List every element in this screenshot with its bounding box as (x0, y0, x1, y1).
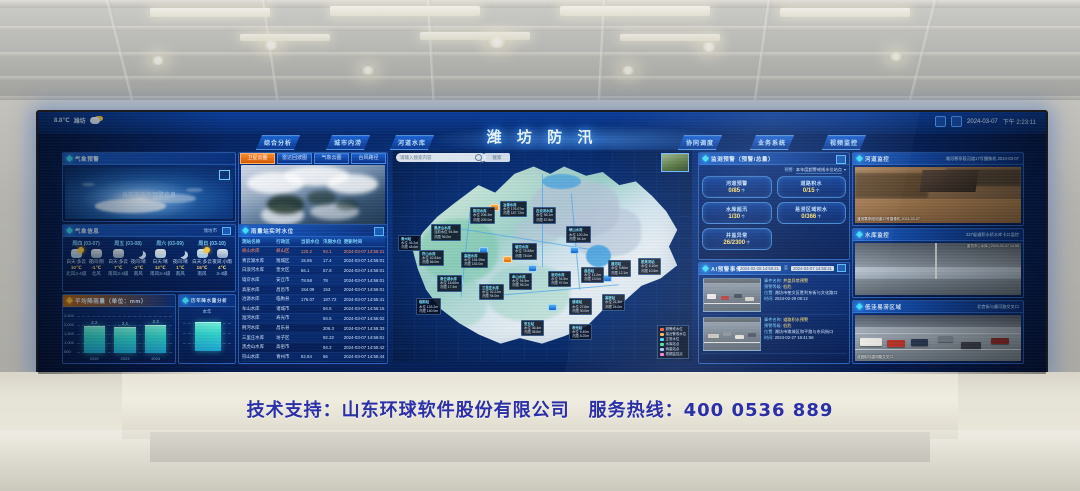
cell-level: 176.07 (300, 294, 322, 304)
bar-group[interactable]: 2.1 (114, 317, 135, 353)
cell-time: 2024-03-07 14:56:01 (343, 333, 385, 343)
tab-coordinated-dispatch[interactable]: 协同调度 (678, 135, 722, 150)
cell-district: 临朐县 (275, 294, 300, 304)
cell-level: 78.58 (300, 275, 322, 285)
cloud-icon (217, 249, 228, 258)
camera-overlay-text: 潍坊市 | 水库 | 2024-03-07 14:56 (967, 244, 1019, 249)
map-tooltip[interactable]: 寿光站水位 6.40m汛限 8.20m (569, 324, 592, 341)
tooltip-limit: 汛限 96.0m (434, 235, 451, 239)
sun-cloud-icon (197, 249, 208, 258)
tooltip-limit: 汛限 17.4m (440, 285, 457, 289)
col-level: 当前水位 (300, 237, 322, 247)
map-tooltip[interactable]: 诸城站水位 27.6m汛限 30.0m (569, 298, 592, 315)
x-tick: 2022 (84, 356, 105, 361)
col-time: 更新时间 (343, 237, 385, 247)
cell-time: 2024-03-07 14:56:01 (343, 275, 385, 285)
event-level-value: 低危 (783, 284, 791, 289)
event-text: 事件名称: 井盖异常预警 预警等级: 低危 位置: 潍坊市奎文区胜利东街与文化路… (764, 278, 845, 312)
forecast-day[interactable]: 周五 (03-08) 白天:多云7℃南风3-4级夜间:晴-2℃南风 (108, 240, 148, 277)
cell-station: 淮河水库 (241, 314, 275, 324)
cell-limit: 153 (322, 285, 343, 295)
camera-scene-label: 北宫街与虞河路交叉口 (977, 304, 1019, 310)
kpi-label: 井盖异常 (705, 232, 769, 239)
cell-level: 15.65 (300, 256, 322, 266)
rainfall-bar-chart[interactable]: 2,500 2,000 1,500 1,000 500 2.2 2.1 2. (63, 307, 175, 361)
cell-level (300, 333, 322, 343)
camera-overlay-text: 北宫街与虞河路交叉口 (857, 355, 893, 360)
table-row[interactable]: 黑虎山水库高密市94.22024-03-07 14:55:42 (241, 342, 385, 352)
current-time: 下午 2:23:11 (1003, 117, 1036, 126)
cell-level (300, 342, 322, 352)
tooltip-limit: 汛限 57.8m (536, 218, 553, 222)
forecast-grid: 周四 (03-07) 白天:多云10℃北风3-4级夜间:阴-1℃北风 周五 (0… (66, 240, 232, 277)
table-row[interactable]: 牟山水库诸城市94.52024-03-07 14:56:15 (241, 304, 385, 314)
forecast-night-wind: 南风 (128, 271, 148, 277)
event-type-key: 事件名称: (764, 317, 782, 322)
map-search-input[interactable]: 请输入搜索内容 (396, 153, 486, 162)
expand-icon[interactable] (374, 227, 384, 236)
cell-time: 2024-03-07 14:55:44 (343, 352, 385, 362)
snow-icon (155, 249, 166, 258)
tab-rivers-reservoirs[interactable]: 河道水库 (390, 135, 434, 150)
event-thumbnail[interactable] (703, 278, 761, 312)
forecast-night-wind: 北风 (86, 271, 106, 277)
tooltip-limit: 汛限 78.0m (515, 254, 532, 258)
tab-comprehensive-analysis[interactable]: 综合分析 (256, 135, 300, 150)
forecast-title: 气象信息 (75, 227, 99, 235)
weather-forecast-panel[interactable]: 气象信息 潍坊市 周四 (03-07) 白天:多云10℃北风3-4级夜间:阴-1… (62, 224, 236, 292)
moon-icon (175, 249, 186, 258)
forecast-source: 潍坊市 (204, 228, 218, 234)
camera-scene-label: 潍河寒亭段河道17号摄像机 2024-03-07 (946, 156, 1019, 162)
tooltip-limit: 汛限 140.0m (419, 309, 438, 313)
moon-icon (133, 249, 144, 258)
event-text: 事件名称: 道路积水预警 预警等级: 低危 位置: 潍坊市潍城区和平路与东风街口… (764, 317, 845, 351)
cloud-icon (91, 249, 102, 258)
table-row[interactable]: 峡山水库峡山区120.294.12024-03-07 14:56:21 (241, 247, 385, 257)
radar-map[interactable]: 当前无天气预警信息 (65, 167, 233, 219)
cell-limit: 57.8 (322, 266, 343, 276)
map-tooltip[interactable]: 三里庄水库水位 92.22m汛限 94.0m (479, 284, 504, 301)
map-tooltip[interactable]: 胶莱河站水位 8.10m汛限 10.5m (638, 258, 661, 275)
kpi-label: 河道预警 (705, 180, 769, 187)
cell-limit: 187.72 (322, 294, 343, 304)
kpi-river-warning[interactable]: 河道预警 0/85个 (702, 176, 772, 198)
sun-cloud-icon (71, 249, 82, 258)
forecast-day-wind: 南风 (192, 271, 212, 277)
map-tooltip[interactable]: 墙夼水库水位 78.58m汛限 78.0m (512, 243, 537, 260)
event-time-key: 时间: (764, 335, 774, 340)
map-tooltip[interactable]: 高崖水库水位 154.09m汛限 153.0m (461, 252, 488, 269)
cell-station: 冶源水库 (241, 294, 275, 304)
table-title: 雨量站实时水位 (251, 227, 294, 235)
flood-map[interactable]: 青州站水位 46.2m汛限 48.0m 黑虎山水库当前水位 94.5m汛限 96… (392, 150, 692, 362)
cell-station: 白浪河水库 (241, 266, 275, 276)
cell-station: 牟山水库 (241, 304, 275, 314)
forecast-day-wind: 南风3-4级 (108, 271, 128, 277)
x-tick: 2024 (145, 356, 166, 361)
reservoir-camera-panel[interactable]: 水库监控 227省道积水桥水库卡口监控 潍坊市 | 水库 | 2024-03-0… (852, 228, 1024, 298)
kpi-value: 0/85 (728, 188, 740, 194)
camera-title: 河道监控 (865, 155, 889, 163)
map-tooltip[interactable]: 峡山水库水位 120.2m汛限 94.1m (566, 226, 591, 243)
cell-level: 154.09 (300, 285, 322, 295)
tab-satellite-cloud[interactable]: 卫星云图 (240, 153, 275, 164)
diamond-icon (702, 155, 709, 162)
kpi-label: 易涝区域积水 (780, 206, 844, 213)
y-tick: 500 (64, 349, 71, 354)
control-room-photo: 8.8℃ 潍坊 2024-03-07 下午 2:23:11 潍 坊 防 汛 综合… (0, 0, 1080, 491)
event-level-key: 预警等级: (764, 284, 782, 289)
x-tick: 2023 (114, 356, 135, 361)
map-tooltip[interactable]: 荆河水库水位 206.3m汛限 209.0m (470, 207, 495, 224)
map-tooltip[interactable]: 冶源水库水位 176.07m汛限 187.72m (500, 201, 527, 218)
cell-station: 青云湖水库 (241, 256, 275, 266)
map-tooltip[interactable]: 安丘站水位 36.4m汛限 38.8m (521, 320, 544, 337)
cell-district: 峡山区 (275, 247, 300, 257)
event-item[interactable]: 事件名称: 井盖异常预警 预警等级: 低危 位置: 潍坊市奎文区胜利东街与文化路… (701, 276, 847, 315)
satellite-tabs: 卫星云图 雷达回波图 气象云图 台风路径 (239, 153, 387, 164)
map-container[interactable]: 青州站水位 46.2m汛限 48.0m 黑虎山水库当前水位 94.5m汛限 96… (392, 150, 692, 362)
cell-time: 2024-03-07 14:55:42 (343, 342, 385, 352)
forecast-date: 周四 (03-07) (66, 240, 106, 247)
camera-feed-river[interactable]: 潍河寒亭段河道17号摄像机 2024-03-07 (855, 167, 1021, 223)
expand-icon[interactable] (836, 155, 846, 164)
monitor-select-label: 预警: (784, 167, 794, 174)
cell-district: 安丘市 (275, 275, 300, 285)
cell-time: 2024-03-07 14:56:02 (343, 314, 385, 324)
camera-title: 水库监控 (865, 231, 889, 239)
event-loc-value: 潍坊市潍城区和平路与东风街口 (775, 329, 834, 334)
expand-icon[interactable] (219, 170, 230, 180)
monitor-select-value[interactable]: 本年度超警戒线水位站点 (796, 167, 842, 174)
kpi-unit: 个 (816, 188, 820, 193)
camera-feed-lowland[interactable]: 北宫街与虞河路交叉口 (855, 315, 1021, 361)
kpi-label: 道路积水 (780, 180, 844, 187)
diamond-icon (702, 265, 709, 272)
forecast-day[interactable]: 周日 (03-10) 白天:多云15℃南风夜间:小雨4℃3-4级 (192, 240, 232, 277)
forecast-night-wind: 3-4级 (212, 271, 232, 277)
diamond-icon (182, 297, 189, 304)
event-level-value: 低危 (783, 323, 791, 328)
bar-group[interactable]: 2.2 (84, 317, 105, 353)
table-row[interactable]: 冶源水库临朐县176.07187.722024-03-07 14:55:41 (241, 294, 385, 304)
cell-station: 峡山水库 (241, 247, 275, 257)
map-tooltip[interactable]: 符山水库水位 62.84m汛限 66.0m (419, 250, 444, 267)
forecast-day-wind: 南风3-4级 (150, 271, 170, 277)
cell-district: 坊子区 (275, 333, 300, 343)
cell-district: 寿光市 (275, 314, 300, 324)
cell-time: 2024-03-07 14:56:01 (343, 285, 385, 295)
tooltip-limit: 汛限 10.5m (641, 269, 658, 273)
camera-title: 低洼易涝区域 (865, 303, 902, 311)
satellite-cloud-panel[interactable]: 卫星云图 雷达回波图 气象云图 台风路径 (238, 152, 388, 233)
bar-value-label: 2.3 (153, 319, 159, 324)
tooltip-limit: 汛限 38.8m (524, 330, 541, 334)
map-tooltip[interactable]: 潍河站水位 9.80m汛限 12.1m (608, 260, 631, 277)
event-type-value: 井盖异常预警 (783, 278, 808, 283)
tooltip-limit: 汛限 96.2m (512, 283, 529, 287)
forecast-day[interactable]: 周四 (03-07) 白天:多云10℃北风3-4级夜间:阴-1℃北风 (66, 240, 106, 277)
cell-level: 62.84 (300, 352, 322, 362)
kpi-lowland-waterlogging[interactable]: 易涝区域积水 0/366个 (777, 202, 847, 224)
chevron-down-icon[interactable]: ▾ (844, 167, 846, 174)
forecast-day[interactable]: 周六 (03-09) 白天:晴12℃南风3-4级夜间:晴1℃南风 (150, 240, 190, 277)
event-type-value: 道路积水预警 (783, 317, 808, 322)
tooltip-limit: 汛限 97.0m (551, 281, 568, 285)
map-search-placeholder: 请输入搜索内容 (400, 155, 432, 161)
weather-chip: 8.8℃ 潍坊 (54, 116, 100, 125)
forecast-day-wind: 北风3-4级 (66, 271, 86, 277)
led-video-wall[interactable]: 8.8℃ 潍坊 2024-03-07 下午 2:23:11 潍 坊 防 汛 综合… (36, 110, 1048, 376)
date-to-field[interactable]: 2024-03-07 14:56:21 (791, 266, 834, 271)
cell-time: 2024-03-07 14:55:41 (343, 294, 385, 304)
col-district: 行政区 (275, 237, 300, 247)
cell-district: 奎文区 (275, 266, 300, 276)
y-tick: 1,000 (64, 340, 74, 345)
support-caption: 技术支持：山东环球软件股份有限公司 服务热线：400 0536 889 (0, 396, 1080, 422)
cell-station: 黑虎山水库 (241, 342, 275, 352)
col-station: 测站名称 (241, 237, 275, 247)
cell-limit: 94.1 (322, 247, 343, 257)
rainfall-chart-panel[interactable]: 平均降雨量（单位：mm） 2,500 2,000 1,500 1,000 500… (62, 294, 176, 364)
no-warning-text: 当前无天气预警信息 (65, 190, 233, 199)
date-from-field[interactable]: 2024-02-28 14:56:21 (738, 266, 781, 271)
cell-station: 三里庄水库 (241, 333, 275, 343)
event-thumbnail[interactable] (703, 317, 761, 351)
event-type-key: 事件名称: (764, 278, 782, 283)
kpi-value: 0/15 (803, 188, 815, 194)
map-tooltip[interactable]: 牟山水库水位 94.5m汛限 96.2m (509, 273, 532, 290)
event-time-value: 2024-02-29 09:12 (775, 296, 808, 301)
map-tooltip[interactable]: 白浪河水库水位 56.1m汛限 57.8m (533, 207, 556, 224)
temperature-value: 8.8℃ (54, 117, 70, 124)
expand-icon[interactable] (222, 227, 231, 235)
y-tick: 1,500 (64, 331, 74, 336)
table-header-row: 测站名称 行政区 当前水位 汛限水位 更新时间 (241, 237, 385, 247)
diamond-icon (66, 227, 73, 234)
kpi-unit: 个 (746, 240, 750, 245)
cell-district: 昌邑市 (275, 285, 300, 295)
map-tooltip[interactable]: 临朐站水位 133.2m汛限 140.0m (416, 298, 441, 315)
table-body: 峡山水库峡山区120.294.12024-03-07 14:56:21 青云湖水… (241, 247, 385, 362)
kpi-value: 1/30 (728, 214, 740, 220)
tooltip-limit: 汛限 94.0m (482, 294, 499, 298)
annual-precip-select[interactable]: 本年 (181, 309, 233, 315)
calendar-icon[interactable] (837, 264, 846, 272)
legend-item: 视频监控点 (660, 352, 686, 357)
table-row[interactable]: 淮河水库寿光市94.52024-03-07 14:56:02 (241, 314, 385, 324)
monitor-title: 监测预警（预警/总量） (711, 155, 774, 163)
cell-time: 2024-03-07 14:56:01 (343, 266, 385, 276)
tooltip-limit: 汛限 24.0m (605, 305, 622, 309)
tooltip-limit: 汛限 153.0m (464, 262, 483, 266)
tooltip-limit: 汛限 187.72m (503, 211, 524, 215)
tooltip-limit: 汛限 66.0m (422, 260, 439, 264)
cell-time: 2024-03-07 14:56:21 (343, 247, 385, 257)
cell-limit: 94.2 (322, 342, 343, 352)
kpi-reservoir-overflood[interactable]: 水库超汛 1/30个 (702, 202, 772, 224)
event-item[interactable]: 事件名称: 道路积水预警 预警等级: 低危 位置: 潍坊市潍城区和平路与东风街口… (701, 315, 847, 354)
cell-level (300, 314, 322, 324)
bar-value-label: 2.1 (122, 321, 128, 326)
cell-limit: 206.3 (322, 323, 343, 333)
y-tick: 2,500 (64, 313, 74, 318)
cell-district: 潍城区 (275, 256, 300, 266)
tab-radar-echo[interactable]: 雷达回波图 (277, 153, 312, 164)
kpi-value: 26/2300 (723, 240, 745, 246)
sun-cloud-icon (90, 117, 100, 124)
diamond-icon (856, 231, 863, 238)
nav-bar: 综合分析 城市内涝 河道水库 协同调度 业务系统 视频监控 (38, 134, 1046, 150)
tooltip-limit: 汛限 94.1m (569, 237, 586, 241)
current-date: 2024-03-07 (967, 119, 998, 125)
y-tick: 2,000 (64, 322, 74, 327)
tab-business-systems[interactable]: 业务系统 (750, 135, 794, 150)
table-row[interactable]: 青云湖水库潍城区15.6517.42024-03-07 14:56:01 (241, 256, 385, 266)
cell-level: 120.2 (300, 247, 322, 257)
ai-alert-event-panel[interactable]: AI预警事件 2024-02-28 14:56:21 至 2024-03-07 … (698, 262, 850, 364)
tooltip-limit: 汛限 48.0m (401, 245, 418, 249)
diamond-icon (242, 227, 249, 234)
event-level-key: 预警等级: (764, 323, 782, 328)
cell-time: 2024-03-07 14:55:33 (343, 323, 385, 333)
col-limit: 汛限水位 (322, 237, 343, 247)
forecast-date: 周日 (03-10) (192, 240, 232, 247)
cell-limit: 78 (322, 275, 343, 285)
map-legend: 超警戒水位 接近警戒水位 正常水位 水库站点 雨量站点 视频监控点 (657, 325, 689, 359)
cell-limit: 17.4 (322, 256, 343, 266)
bar-value-label: 2.2 (91, 320, 97, 325)
event-loc-key: 位置: (764, 290, 774, 295)
cell-limit: 66 (322, 352, 343, 362)
event-time-value: 2024-02-27 16:41:56 (775, 335, 814, 340)
diamond-icon (856, 155, 863, 162)
map-tooltip[interactable]: 高密站水位 21.3m汛限 24.0m (602, 294, 625, 311)
table-row[interactable]: 符山水库青州市62.84662024-03-07 14:55:44 (241, 352, 385, 362)
diamond-icon (66, 155, 73, 162)
forecast-date: 周五 (03-08) (108, 240, 148, 247)
map-tooltip[interactable]: 青州站水位 46.2m汛限 48.0m (398, 235, 421, 252)
camera-scene-label: 227省道积水桥水库卡口监控 (966, 232, 1019, 238)
annual-precip-panel[interactable]: 历年降水量分析 本年 (178, 294, 236, 364)
river-camera-panel[interactable]: 河道监控 潍河寒亭段河道17号摄像机 2024-03-07 潍河寒亭段河道17号… (852, 152, 1024, 226)
cell-limit: 92.22 (322, 333, 343, 343)
kpi-unit: 个 (741, 188, 745, 193)
cell-time: 2024-03-07 14:56:15 (343, 304, 385, 314)
cell-limit: 94.5 (322, 314, 343, 324)
cell-level (300, 323, 322, 333)
map-search-button[interactable]: 搜索 (484, 153, 510, 162)
lowland-camera-panel[interactable]: 低洼易涝区域 北宫街与虞河路交叉口 北宫街与虞河路交叉口 (852, 300, 1024, 364)
city-name: 潍坊 (74, 116, 86, 125)
tooltip-limit: 汛限 8.20m (572, 334, 589, 338)
cell-district: 青州市 (275, 352, 300, 362)
table-row[interactable]: 白浪河水库奎文区56.157.82024-03-07 14:56:01 (241, 266, 385, 276)
cell-limit: 94.5 (322, 304, 343, 314)
cell-district: 昌乐县 (275, 323, 300, 333)
cell-level: 56.1 (300, 266, 322, 276)
magnifier-icon[interactable] (475, 154, 482, 161)
table-row[interactable]: 高崖水库昌邑市154.091532024-03-07 14:56:01 (241, 285, 385, 295)
cloud-icon (113, 249, 124, 258)
monitoring-warning-panel[interactable]: 监测预警（预警/总量） 预警: 本年度超警戒线水位站点 ▾ 河道预警 0/85个 (698, 152, 850, 260)
chart-title: 平均降雨量（单位：mm） (75, 297, 147, 305)
table-row[interactable]: 墙夼水库安丘市78.58782024-03-07 14:56:01 (241, 275, 385, 285)
map-thumbnail[interactable] (661, 153, 689, 172)
bar-group[interactable]: 2.3 (145, 317, 166, 353)
tooltip-limit: 汛限 13.0m (584, 277, 601, 281)
kpi-value: 0/366 (801, 214, 816, 220)
table-row[interactable]: 荆河水库昌乐县206.32024-03-07 14:55:33 (241, 323, 385, 333)
cell-district: 诸城市 (275, 304, 300, 314)
kpi-unit: 个 (741, 214, 745, 219)
tooltip-limit: 汛限 30.0m (572, 309, 589, 313)
weather-warning-title: 气象预警 (75, 155, 99, 163)
tab-typhoon-path[interactable]: 台风路径 (351, 153, 386, 164)
map-tooltip[interactable]: 昌邑站水位 11.2m汛限 13.0m (581, 267, 604, 284)
cell-time: 2024-03-07 14:56:01 (343, 256, 385, 266)
forecast-night-wind: 南风 (170, 271, 190, 277)
weather-warning-panel[interactable]: 气象预警 当前无天气预警信息 (62, 152, 236, 222)
event-time-key: 时间: (764, 296, 774, 301)
kpi-label: 水库超汛 (705, 206, 769, 213)
cell-station: 高崖水库 (241, 285, 275, 295)
forecast-date: 周六 (03-09) (150, 240, 190, 247)
kpi-unit: 个 (817, 214, 821, 219)
map-tooltip[interactable]: 黑虎山水库当前水位 94.5m汛限 96.0m (431, 224, 461, 241)
diamond-icon (856, 303, 863, 310)
reservoir-table[interactable]: 测站名称 行政区 当前水位 汛限水位 更新时间 峡山水库峡山区120.294.1… (241, 237, 385, 362)
map-tooltip[interactable]: 青云湖水库水位 15.65m汛限 17.4m (437, 275, 462, 292)
camera-feed-reservoir[interactable]: 潍坊市 | 水库 | 2024-03-07 14:56 (855, 243, 1021, 295)
camera-overlay-text: 潍河寒亭段河道17号摄像机 2024-03-07 (857, 217, 920, 222)
event-loc-value: 潍坊市奎文区胜利东街与文化路口 (775, 290, 838, 295)
satellite-image[interactable] (241, 165, 385, 230)
diamond-icon (66, 297, 73, 304)
tooltip-limit: 汛限 209.0m (473, 218, 492, 222)
annual-precip-title: 历年降水量分析 (191, 298, 227, 304)
cell-district: 高密市 (275, 342, 300, 352)
cell-level (300, 304, 322, 314)
tab-weather-cloud[interactable]: 气象云图 (314, 153, 349, 164)
kpi-road-waterlogging[interactable]: 道路积水 0/15个 (777, 176, 847, 198)
map-tooltip[interactable]: 淮河水库水位 94.5m汛限 97.0m (548, 271, 571, 288)
cell-station: 符山水库 (241, 352, 275, 362)
reservoir-level-table-panel[interactable]: 雨量站实时水位 测站名称 行政区 当前水位 汛限水位 更新时间 峡山水库峡山区1… (238, 224, 388, 364)
kpi-manhole-abnormal[interactable]: 井盖异常 26/2300个 (702, 228, 772, 250)
tooltip-limit: 汛限 12.1m (611, 271, 628, 275)
event-loc-key: 位置: (764, 329, 774, 334)
cell-station: 墙夼水库 (241, 275, 275, 285)
date-separator: 至 (784, 265, 788, 271)
cell-station: 荆河水库 (241, 323, 275, 333)
tab-urban-waterlogging[interactable]: 城市内涝 (326, 135, 370, 150)
table-row[interactable]: 三里庄水库坊子区92.222024-03-07 14:56:01 (241, 333, 385, 343)
tab-video-surveillance[interactable]: 视频监控 (822, 135, 866, 150)
